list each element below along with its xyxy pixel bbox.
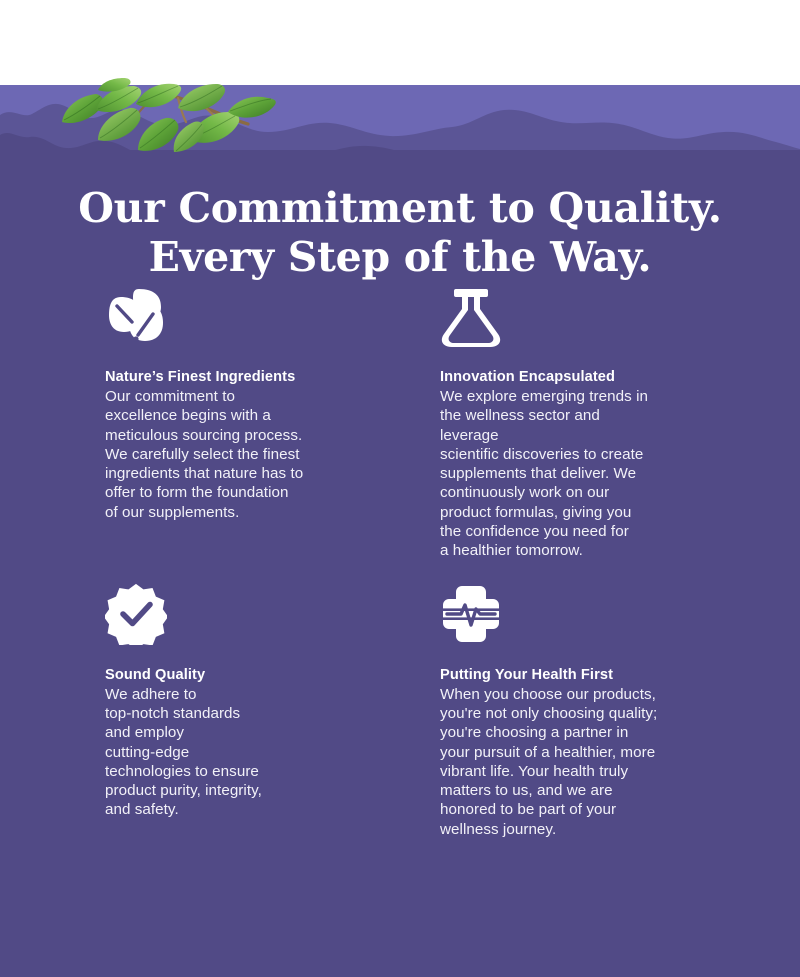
feature-body: When you choose our products, you're not… xyxy=(440,685,660,839)
leaves-icon xyxy=(105,285,167,347)
feature-row-1: Nature’s Finest Ingredients Our commitme… xyxy=(0,285,800,561)
quality-commitment-page: Our Commitment to Quality. Every Step of… xyxy=(0,0,800,977)
feature-title: Putting Your Health First xyxy=(440,665,660,685)
verified-badge-check-icon xyxy=(105,583,167,645)
feature-body: Our commitment to excellence begins with… xyxy=(105,387,325,522)
feature-card-health: Putting Your Health First When you choos… xyxy=(335,583,670,839)
feature-body: We adhere to top-notch standards and emp… xyxy=(105,685,325,820)
feature-title: Sound Quality xyxy=(105,665,325,685)
feature-card-innovation: Innovation Encapsulated We explore emerg… xyxy=(335,285,670,561)
feature-grid: Nature’s Finest Ingredients Our commitme… xyxy=(0,285,800,839)
feature-card-ingredients: Nature’s Finest Ingredients Our commitme… xyxy=(0,285,335,561)
feature-title: Innovation Encapsulated xyxy=(440,367,660,387)
feature-title: Nature’s Finest Ingredients xyxy=(105,367,325,387)
feature-row-2: Sound Quality We adhere to top-notch sta… xyxy=(0,583,800,839)
headline-line-2: Every Step of the Way. xyxy=(0,234,800,280)
page-title: Our Commitment to Quality. Every Step of… xyxy=(0,185,800,280)
headline-line-1: Our Commitment to Quality. xyxy=(0,185,800,231)
lab-flask-icon xyxy=(440,285,502,347)
feature-body: We explore emerging trends in the wellne… xyxy=(440,387,660,561)
medical-cross-heartbeat-icon xyxy=(440,583,502,645)
feature-card-quality: Sound Quality We adhere to top-notch sta… xyxy=(0,583,335,839)
